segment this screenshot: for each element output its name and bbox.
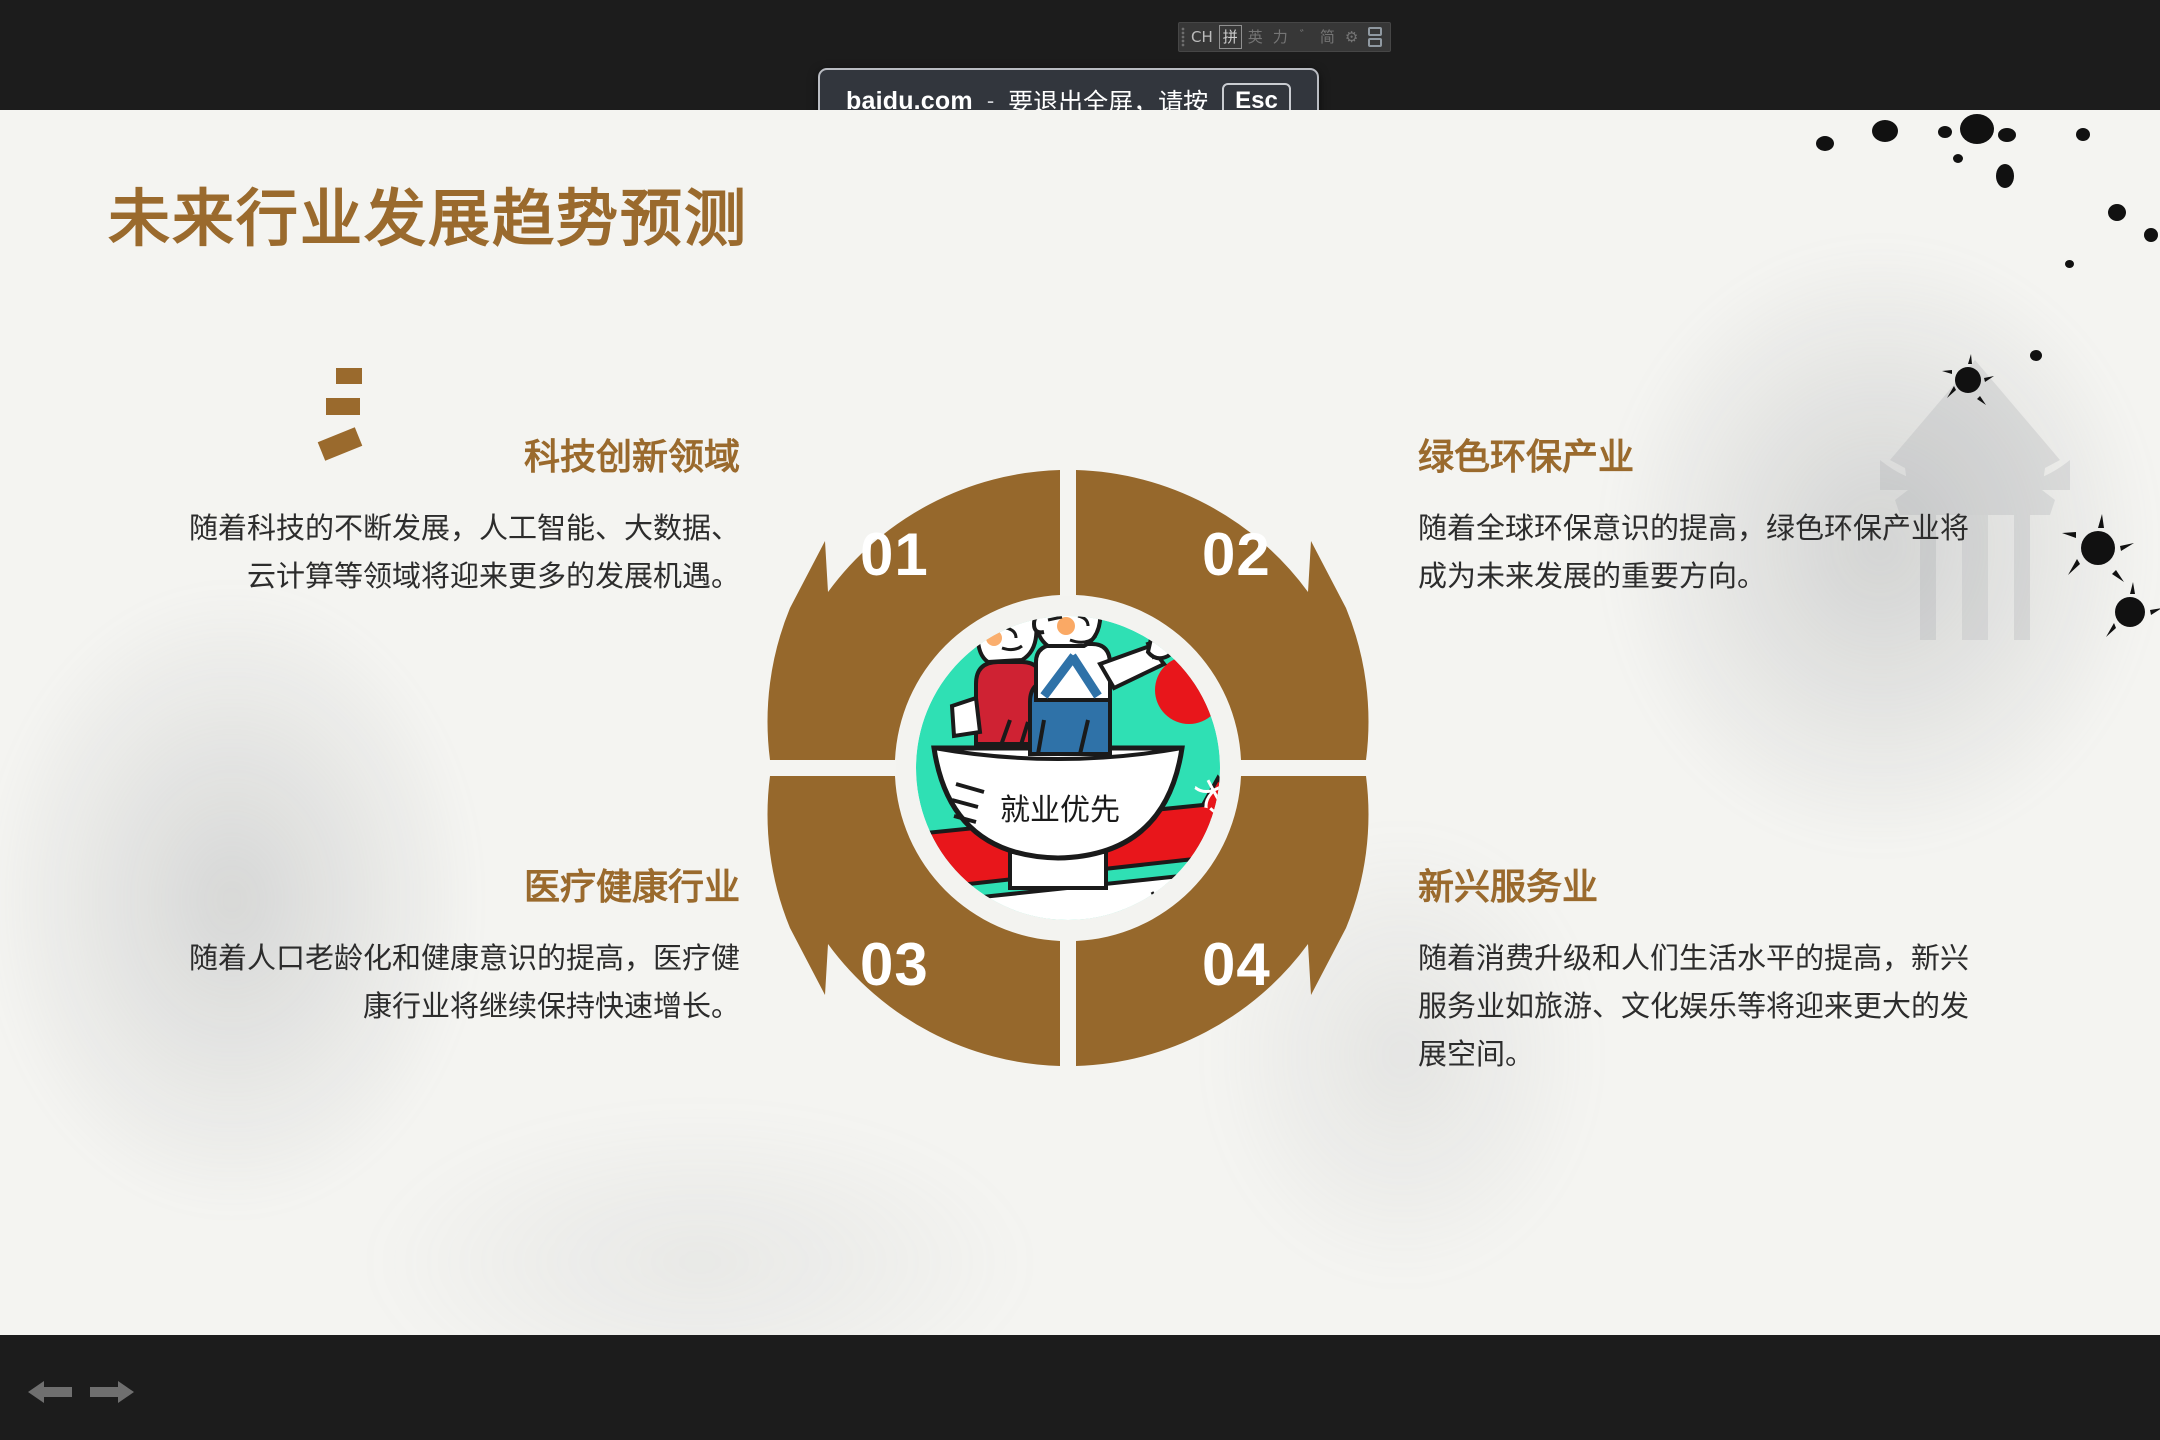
topic-heading: 新兴服务业 (1418, 858, 1978, 910)
bowl-label: 就业优先 (1000, 793, 1120, 828)
ink-splat-icon (1872, 120, 1898, 142)
diagram-ring-graphic: 大增长 (748, 448, 1388, 1088)
topic-block-01: 科技创新领域 随着科技的不断发展，人工智能、大数据、云计算等领域将迎来更多的发展… (180, 428, 740, 602)
topic-body: 随着消费升级和人们生活水平的提高，新兴服务业如旅游、文化娱乐等将迎来更大的发展空… (1418, 936, 1978, 1080)
presentation-slide[interactable]: 未来行业发展趋势预测 科技创新领域 随着科技的不断发展，人工智能、大数据、云计算… (0, 110, 2160, 1335)
ink-splat-icon (2076, 128, 2090, 141)
quadrant-number-02: 02 (1202, 520, 1271, 589)
ink-splat-icon (1816, 136, 1834, 151)
topic-block-02: 绿色环保产业 随着全球环保意识的提高，绿色环保产业将成为未来发展的重要方向。 (1418, 428, 1978, 602)
ink-splat-icon (1998, 128, 2016, 142)
ink-splat-icon (1953, 154, 1963, 163)
ink-splat-icon (2060, 510, 2140, 590)
topic-block-04: 新兴服务业 随着消费升级和人们生活水平的提高，新兴服务业如旅游、文化娱乐等将迎来… (1418, 858, 1978, 1080)
next-slide-arrow-icon[interactable] (90, 1379, 134, 1405)
ink-splat-icon (1940, 350, 2000, 410)
ink-splat-icon (2065, 260, 2074, 268)
ink-splat-icon (1960, 114, 1994, 144)
ime-input-mode-icon[interactable]: 拼 (1219, 25, 1242, 49)
topic-heading: 科技创新领域 (180, 428, 740, 480)
topic-block-03: 医疗健康行业 随着人口老龄化和健康意识的提高，医疗健康行业将继续保持快速增长。 (180, 858, 740, 1032)
quadrant-number-04: 04 (1202, 930, 1271, 999)
ime-tools-icon[interactable]: 力 (1269, 26, 1292, 48)
ink-splat-icon (1996, 164, 2014, 188)
prev-slide-arrow-icon[interactable] (28, 1379, 72, 1405)
ime-panel-box-icon (1368, 27, 1382, 36)
ime-language-indicator[interactable]: CH (1187, 26, 1217, 48)
ink-splat-icon (1938, 126, 1952, 138)
topic-body: 随着全球环保意识的提高，绿色环保产业将成为未来发展的重要方向。 (1418, 506, 1978, 602)
slide-navigation-bar (0, 1335, 2160, 1440)
topic-body: 随着科技的不断发展，人工智能、大数据、云计算等领域将迎来更多的发展机遇。 (180, 506, 740, 602)
ime-panel-icon[interactable] (1364, 27, 1386, 47)
ime-drag-handle[interactable] (1181, 27, 1185, 47)
ime-panel-box2-icon (1368, 38, 1382, 47)
ink-splat-icon (2030, 350, 2042, 361)
topic-body: 随着人口老龄化和健康意识的提高，医疗健康行业将继续保持快速增长。 (180, 936, 740, 1032)
ime-toolbar[interactable]: CH 拼 英 力 ゙ 简 ⚙ (1178, 22, 1391, 52)
ime-settings-gear-icon[interactable]: ⚙ (1341, 26, 1362, 48)
ime-punctuation-icon[interactable]: ゙ (1294, 26, 1314, 48)
topic-heading: 绿色环保产业 (1418, 428, 1978, 480)
page-title: 未来行业发展趋势预测 (108, 168, 748, 258)
ink-splat-icon (2144, 228, 2158, 242)
ime-simplified-icon[interactable]: 简 (1316, 26, 1339, 48)
ink-splat-icon (2100, 580, 2160, 646)
topic-heading: 医疗健康行业 (180, 858, 740, 910)
ink-splat-icon (2108, 204, 2126, 221)
ime-english-icon[interactable]: 英 (1244, 26, 1267, 48)
screen: CH 拼 英 力 ゙ 简 ⚙ baidu.com - 要退出全屏，请按 Esc (0, 0, 2160, 1440)
circular-diagram: 大增长 (748, 448, 1388, 1088)
quadrant-number-01: 01 (860, 520, 929, 589)
quadrant-number-03: 03 (860, 930, 929, 999)
